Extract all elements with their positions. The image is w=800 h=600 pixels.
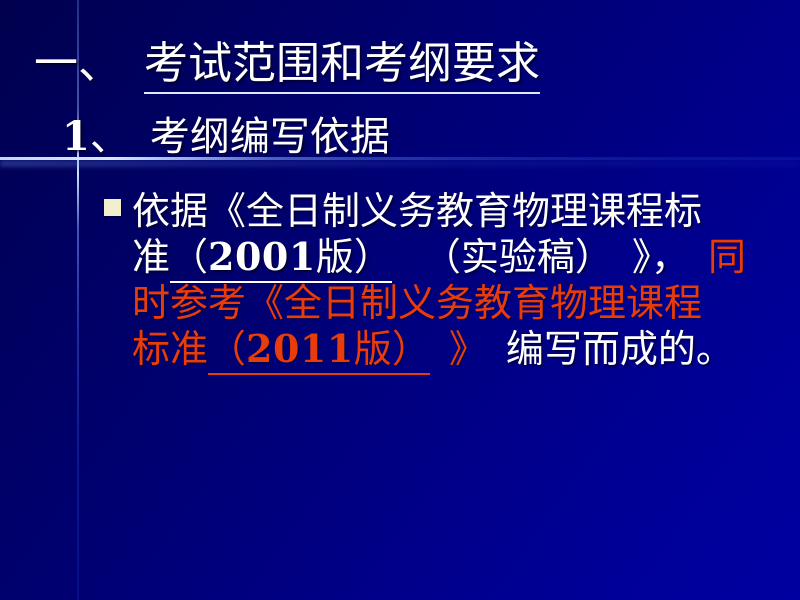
slide-title: 一、考试范围和考纲要求 <box>34 38 540 90</box>
body-line2-bracket: 》 <box>632 235 651 279</box>
body-line2-comma: ， <box>651 235 689 279</box>
decorative-horizontal-glow <box>0 160 800 167</box>
edition-label: 版 <box>316 235 354 279</box>
bracket-open-2: （ <box>208 327 246 371</box>
body-line4-bracket: 》 <box>449 327 487 371</box>
body-line2-mid: （实验稿） <box>411 235 613 279</box>
body-line2-underlined: （2001版） <box>170 235 392 283</box>
square-bullet-icon <box>104 199 121 216</box>
slide-body: 依据《全日制义务教育物理课程标 准（2001版） （实验稿）》，同 时参考《全日… <box>102 188 782 372</box>
edition-label-2: 版 <box>354 327 392 371</box>
slide-subtitle: 1、考纲编写依据 <box>62 113 390 161</box>
presentation-slide: 一、考试范围和考纲要求 1、考纲编写依据 依据《全日制义务教育物理课程标 准（2… <box>0 0 800 600</box>
body-line2-prefix: 准 <box>132 235 170 279</box>
year-2011: 2011 <box>246 326 354 371</box>
title-underlined-text: 考试范围和考纲要求 <box>144 38 540 94</box>
body-line-4: 标准（2011版）》编写而成的。 <box>132 326 782 372</box>
body-line-3: 时参考《全日制义务教育物理课程 <box>132 280 782 326</box>
bracket-open: （ <box>170 235 208 279</box>
body-line-2: 准（2001版） （实验稿）》，同 <box>132 234 782 280</box>
bullet-list-item: 依据《全日制义务教育物理课程标 准（2001版） （实验稿）》，同 时参考《全日… <box>102 188 782 372</box>
year-2001: 2001 <box>208 234 316 279</box>
subtitle-number: 1 <box>62 113 90 160</box>
body-line-1: 依据《全日制义务教育物理课程标 <box>132 188 782 234</box>
body-line1-white: 依据《全日制义务教育物理课程标 <box>132 189 702 233</box>
body-line4-underlined: （2011版） <box>208 327 430 375</box>
decorative-vertical-line <box>77 0 79 600</box>
bracket-close: ） <box>354 235 392 279</box>
bullet-paragraph: 依据《全日制义务教育物理课程标 准（2001版） （实验稿）》，同 时参考《全日… <box>132 188 782 372</box>
body-line3-orange: 时参考《全日制义务教育物理课程 <box>132 281 702 325</box>
subtitle-separator: 、 <box>90 114 130 160</box>
title-prefix: 一、 <box>34 38 122 89</box>
subtitle-text: 考纲编写依据 <box>150 114 390 160</box>
body-line4-prefix: 标准 <box>132 327 208 371</box>
body-line4-white-tail: 编写而成的。 <box>506 327 734 371</box>
bracket-close-2: ） <box>392 327 430 371</box>
body-line2-orange-tail: 同 <box>708 235 746 279</box>
